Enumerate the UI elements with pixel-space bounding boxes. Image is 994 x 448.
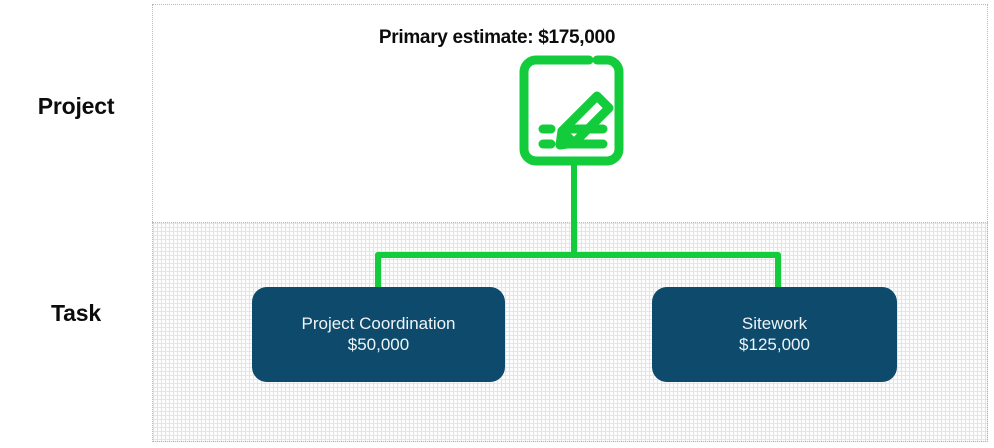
- note-with-pencil-icon[interactable]: [519, 55, 629, 167]
- connector-branch-left: [375, 252, 381, 290]
- task-node-name: Sitework: [742, 314, 807, 335]
- connector-stem: [571, 163, 577, 255]
- task-node-amount: $125,000: [739, 335, 810, 356]
- task-node-name: Project Coordination: [301, 314, 455, 335]
- diagram-canvas: Project Task Primary estimate: $175,000 …: [0, 0, 994, 448]
- connector-branch-right: [775, 252, 781, 290]
- connector-horizontal-bar: [375, 252, 781, 258]
- task-node[interactable]: Project Coordination $50,000: [252, 287, 505, 382]
- task-node-amount: $50,000: [348, 335, 409, 356]
- primary-estimate-label: Primary estimate: $175,000: [0, 27, 994, 49]
- swimlane-label-task: Task: [0, 300, 152, 327]
- swimlane-label-project: Project: [0, 93, 152, 120]
- task-node[interactable]: Sitework $125,000: [652, 287, 897, 382]
